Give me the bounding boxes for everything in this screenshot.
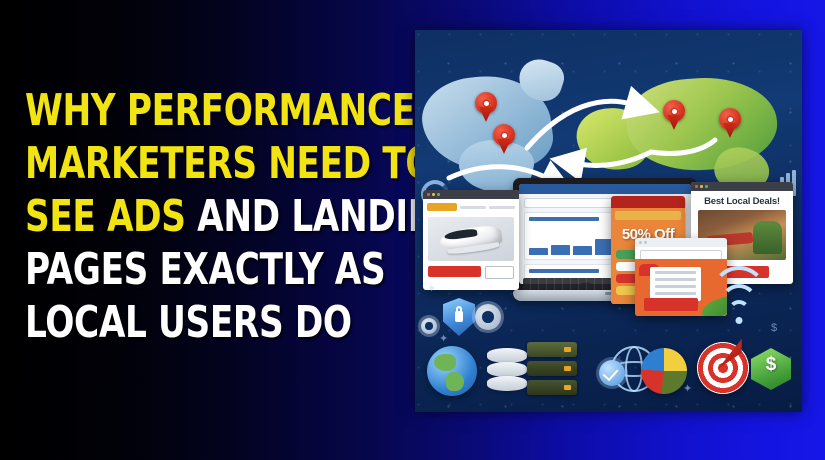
window-titlebar [691, 182, 793, 191]
headline-line-3: SEE ADS AND LANDING [25, 190, 321, 243]
sparkle-decoration: ✦ [683, 382, 692, 395]
pin-dot [482, 99, 491, 108]
pin-tip [723, 123, 737, 138]
map-pin-north-america-north[interactable] [475, 92, 497, 122]
sparkle-decoration: $ [771, 322, 777, 334]
window-titlebar [423, 190, 519, 199]
ad-cta-row [423, 263, 519, 284]
map-pin-asia-east[interactable] [719, 108, 741, 138]
promo-subhead [615, 211, 681, 220]
ad-header [423, 199, 519, 215]
pie-chart-icon [641, 348, 687, 394]
brand-logo [427, 203, 457, 211]
card-title-placeholder [529, 269, 599, 273]
wifi-icon [711, 288, 767, 322]
sparkle-decoration: ✦ [439, 332, 448, 345]
headline-line-1: WHY PERFORMANCE [25, 84, 321, 137]
gear-icon [475, 304, 501, 330]
window-titlebar [635, 238, 727, 247]
headline-line-4: PAGES EXACTLY AS [25, 243, 321, 296]
pin-tip [667, 115, 681, 130]
shoe-product-ad-window[interactable] [423, 190, 519, 290]
pin-tip [479, 107, 493, 122]
browser-chrome-bar [519, 184, 691, 194]
headline-line-5: LOCAL USERS DO [25, 296, 321, 349]
product-image [428, 217, 514, 261]
page-title: WHY PERFORMANCE MARKETERS NEED TO SEE AD… [25, 84, 405, 349]
sparkle-decoration: ✦ [427, 282, 436, 295]
target-dart-icon [697, 342, 749, 394]
pin-dot [726, 115, 735, 124]
headline-highlight-see-ads: SEE ADS [25, 191, 186, 242]
hero-artwork: 50% Off Best Local Deals! [415, 30, 802, 412]
pin-dot [500, 131, 509, 140]
deals-headline: Best Local Deals! [691, 191, 793, 210]
secondary-cta-button[interactable] [485, 266, 514, 279]
pin-tip [497, 139, 511, 154]
primary-cta-button[interactable] [428, 266, 481, 277]
window-titlebar [611, 196, 685, 208]
check-circle-icon [599, 360, 625, 386]
map-pin-north-america-south[interactable] [493, 124, 515, 154]
headline-line-2: MARKETERS NEED TO [25, 137, 321, 190]
pin-dot [670, 107, 679, 116]
gear-small-icon [421, 318, 437, 334]
card-title-placeholder [529, 217, 599, 221]
map-pin-asia-west[interactable] [663, 100, 685, 130]
popup-cta-button[interactable] [644, 298, 697, 311]
sneaker-graphic [439, 223, 503, 253]
popup-text-card [650, 267, 702, 301]
database-icon [487, 348, 527, 394]
nav-placeholder [460, 206, 486, 209]
globe-icon [427, 346, 477, 396]
promo-banner: WHY PERFORMANCE MARKETERS NEED TO SEE AD… [0, 0, 825, 460]
nav-placeholder [489, 206, 515, 209]
server-stack-icon [527, 342, 577, 396]
